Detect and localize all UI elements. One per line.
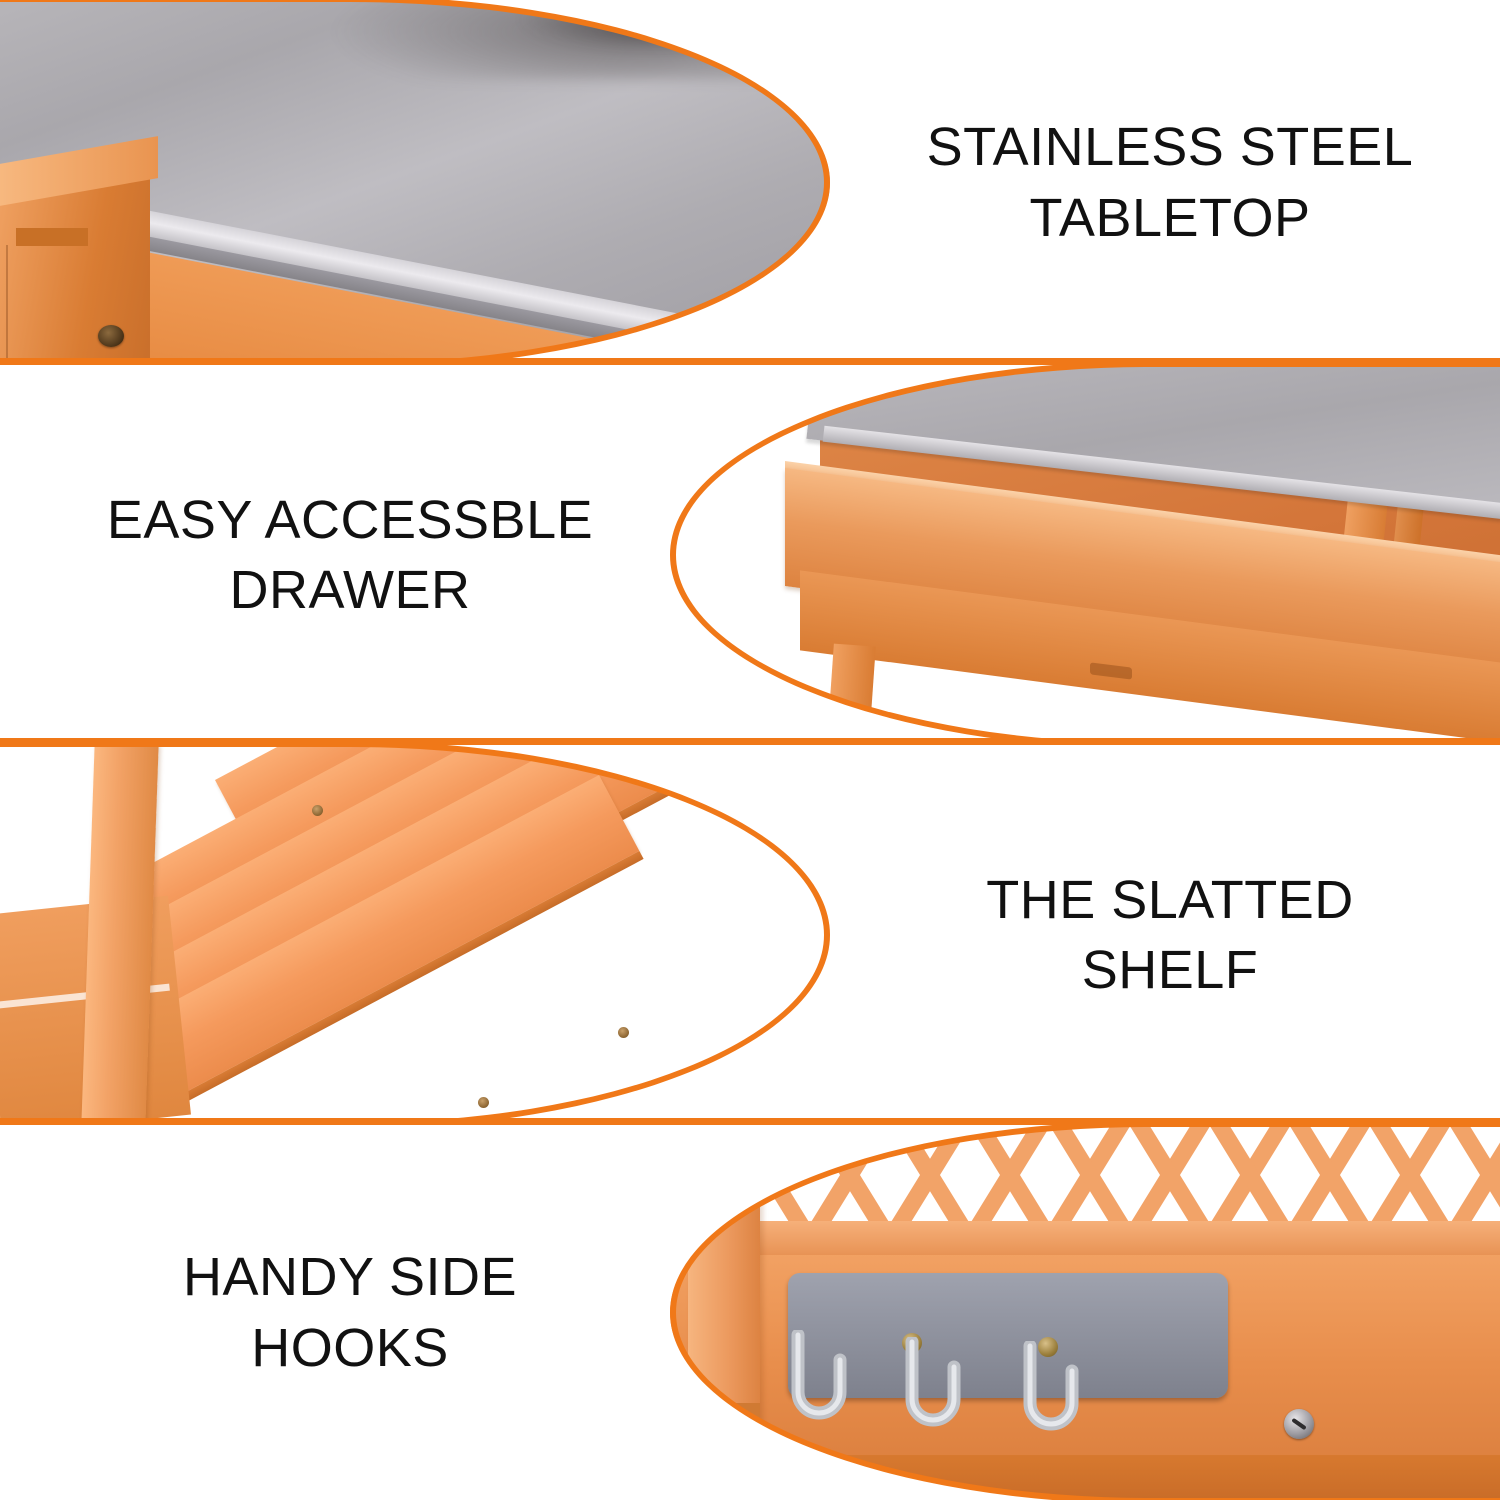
caption-line-1: THE SLATTED [986,865,1354,935]
caption-line-1: EASY ACCESSBLE [107,485,593,555]
wood-top-rail [670,1221,1500,1255]
photo-stainless-steel-tabletop [0,0,830,365]
caption-the-slatted-shelf: THE SLATTED SHELF [840,745,1500,1125]
wood-vertical-post [81,745,158,1125]
panel-divider-rule-2 [0,738,1500,745]
panel-divider-rule-1 [0,358,1500,365]
feature-panel-the-slatted-shelf: THE SLATTED SHELF [0,745,1500,1125]
steel-reflection-secondary [520,0,800,50]
hook-mounting-plate [788,1273,1228,1398]
screw-icon [1284,1409,1314,1439]
feature-panel-stainless-steel-tabletop: STAINLESS STEEL TABLETOP [0,0,1500,365]
caption-line-2: HOOKS [251,1313,449,1383]
caption-line-2: SHELF [1082,935,1259,1005]
photo-handy-side-hooks [670,1125,1500,1500]
screw-icon [618,1027,629,1038]
caption-line-1: HANDY SIDE [183,1242,517,1312]
caption-line-2: DRAWER [230,555,471,625]
caption-line-1: STAINLESS STEEL [927,112,1414,182]
feature-infographic: STAINLESS STEEL TABLETOP [0,0,1500,1500]
screw-icon [312,805,323,816]
panel-divider-rule-3 [0,1118,1500,1125]
screw-icon [478,1097,489,1108]
wood-seam [6,245,8,365]
caption-handy-side-hooks: HANDY SIDE HOOKS [0,1125,700,1500]
wood-joint-notch [16,228,88,246]
caption-easy-accessible-drawer: EASY ACCESSBLE DRAWER [0,365,700,745]
wood-front-leg [826,644,876,745]
feature-panel-handy-side-hooks: HANDY SIDE HOOKS [0,1125,1500,1500]
wood-lower-shelf [670,1455,1500,1500]
hook-icon [1020,1341,1082,1441]
hook-icon [788,1330,850,1430]
caption-line-2: TABLETOP [1029,183,1310,253]
hook-icon [902,1337,964,1437]
feature-panel-easy-accessible-drawer: EASY ACCESSBLE DRAWER [0,365,1500,745]
screw-icon [98,325,124,347]
lattice-panel-icon [670,1125,1500,1235]
caption-stainless-steel-tabletop: STAINLESS STEEL TABLETOP [840,0,1500,365]
